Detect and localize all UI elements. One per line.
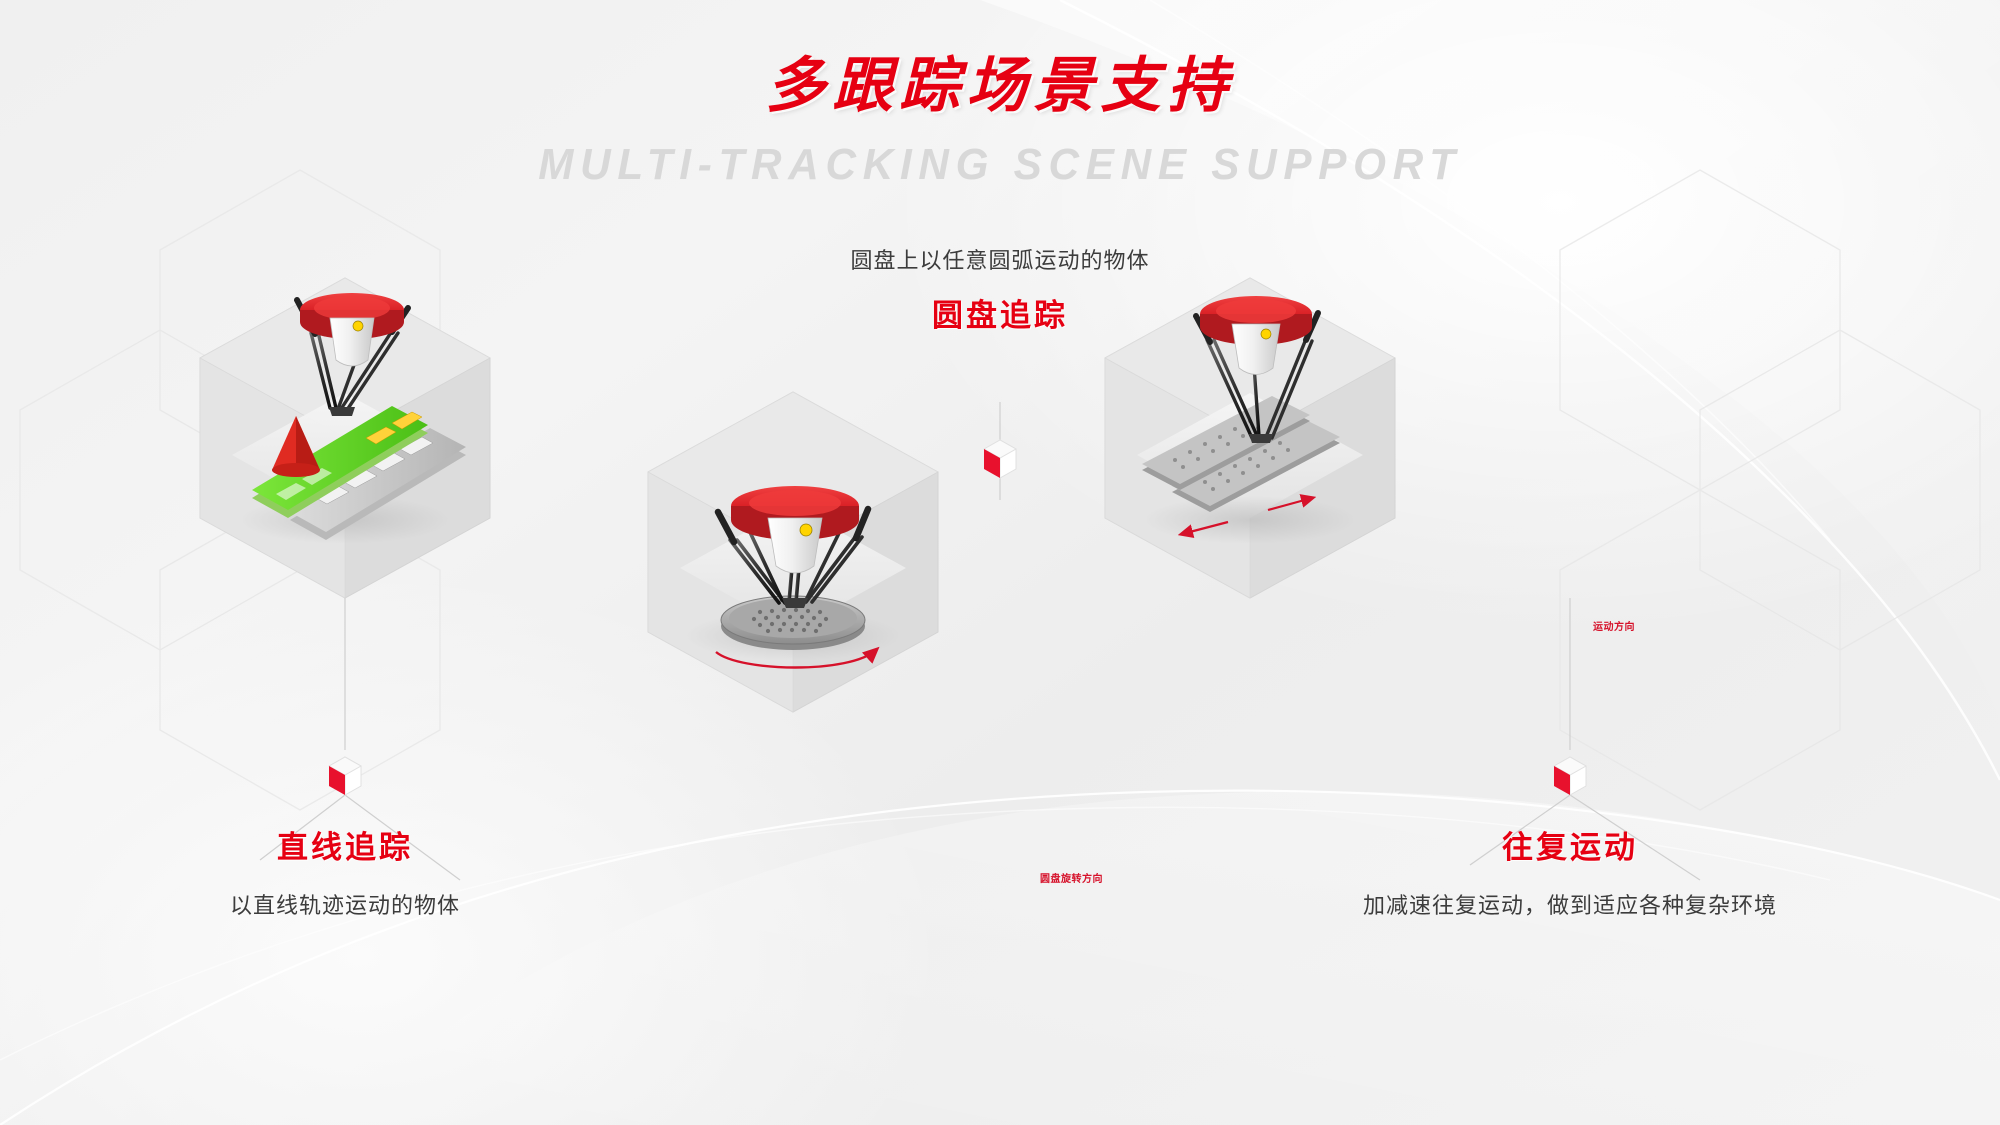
cube-marker-center xyxy=(984,440,1016,478)
scene-panel-left[interactable] xyxy=(200,278,500,598)
scene-illustrations xyxy=(0,0,2000,1125)
right-scene-note: 运动方向 xyxy=(1593,618,1635,633)
left-scene-title: 直线追踪 xyxy=(145,822,545,867)
scene-panel-right[interactable] xyxy=(1105,278,1395,598)
right-scene-description: 加减速往复运动，做到适应各种复杂环境 xyxy=(1270,888,1870,920)
right-scene-title: 往复运动 xyxy=(1370,822,1770,867)
center-scene-note: 圆盘旋转方向 xyxy=(1040,870,1103,885)
left-scene-description: 以直线轨迹运动的物体 xyxy=(145,888,545,920)
cube-marker-right xyxy=(1554,757,1586,795)
cube-marker-left xyxy=(329,757,361,795)
scene-panel-center[interactable] xyxy=(648,392,938,712)
